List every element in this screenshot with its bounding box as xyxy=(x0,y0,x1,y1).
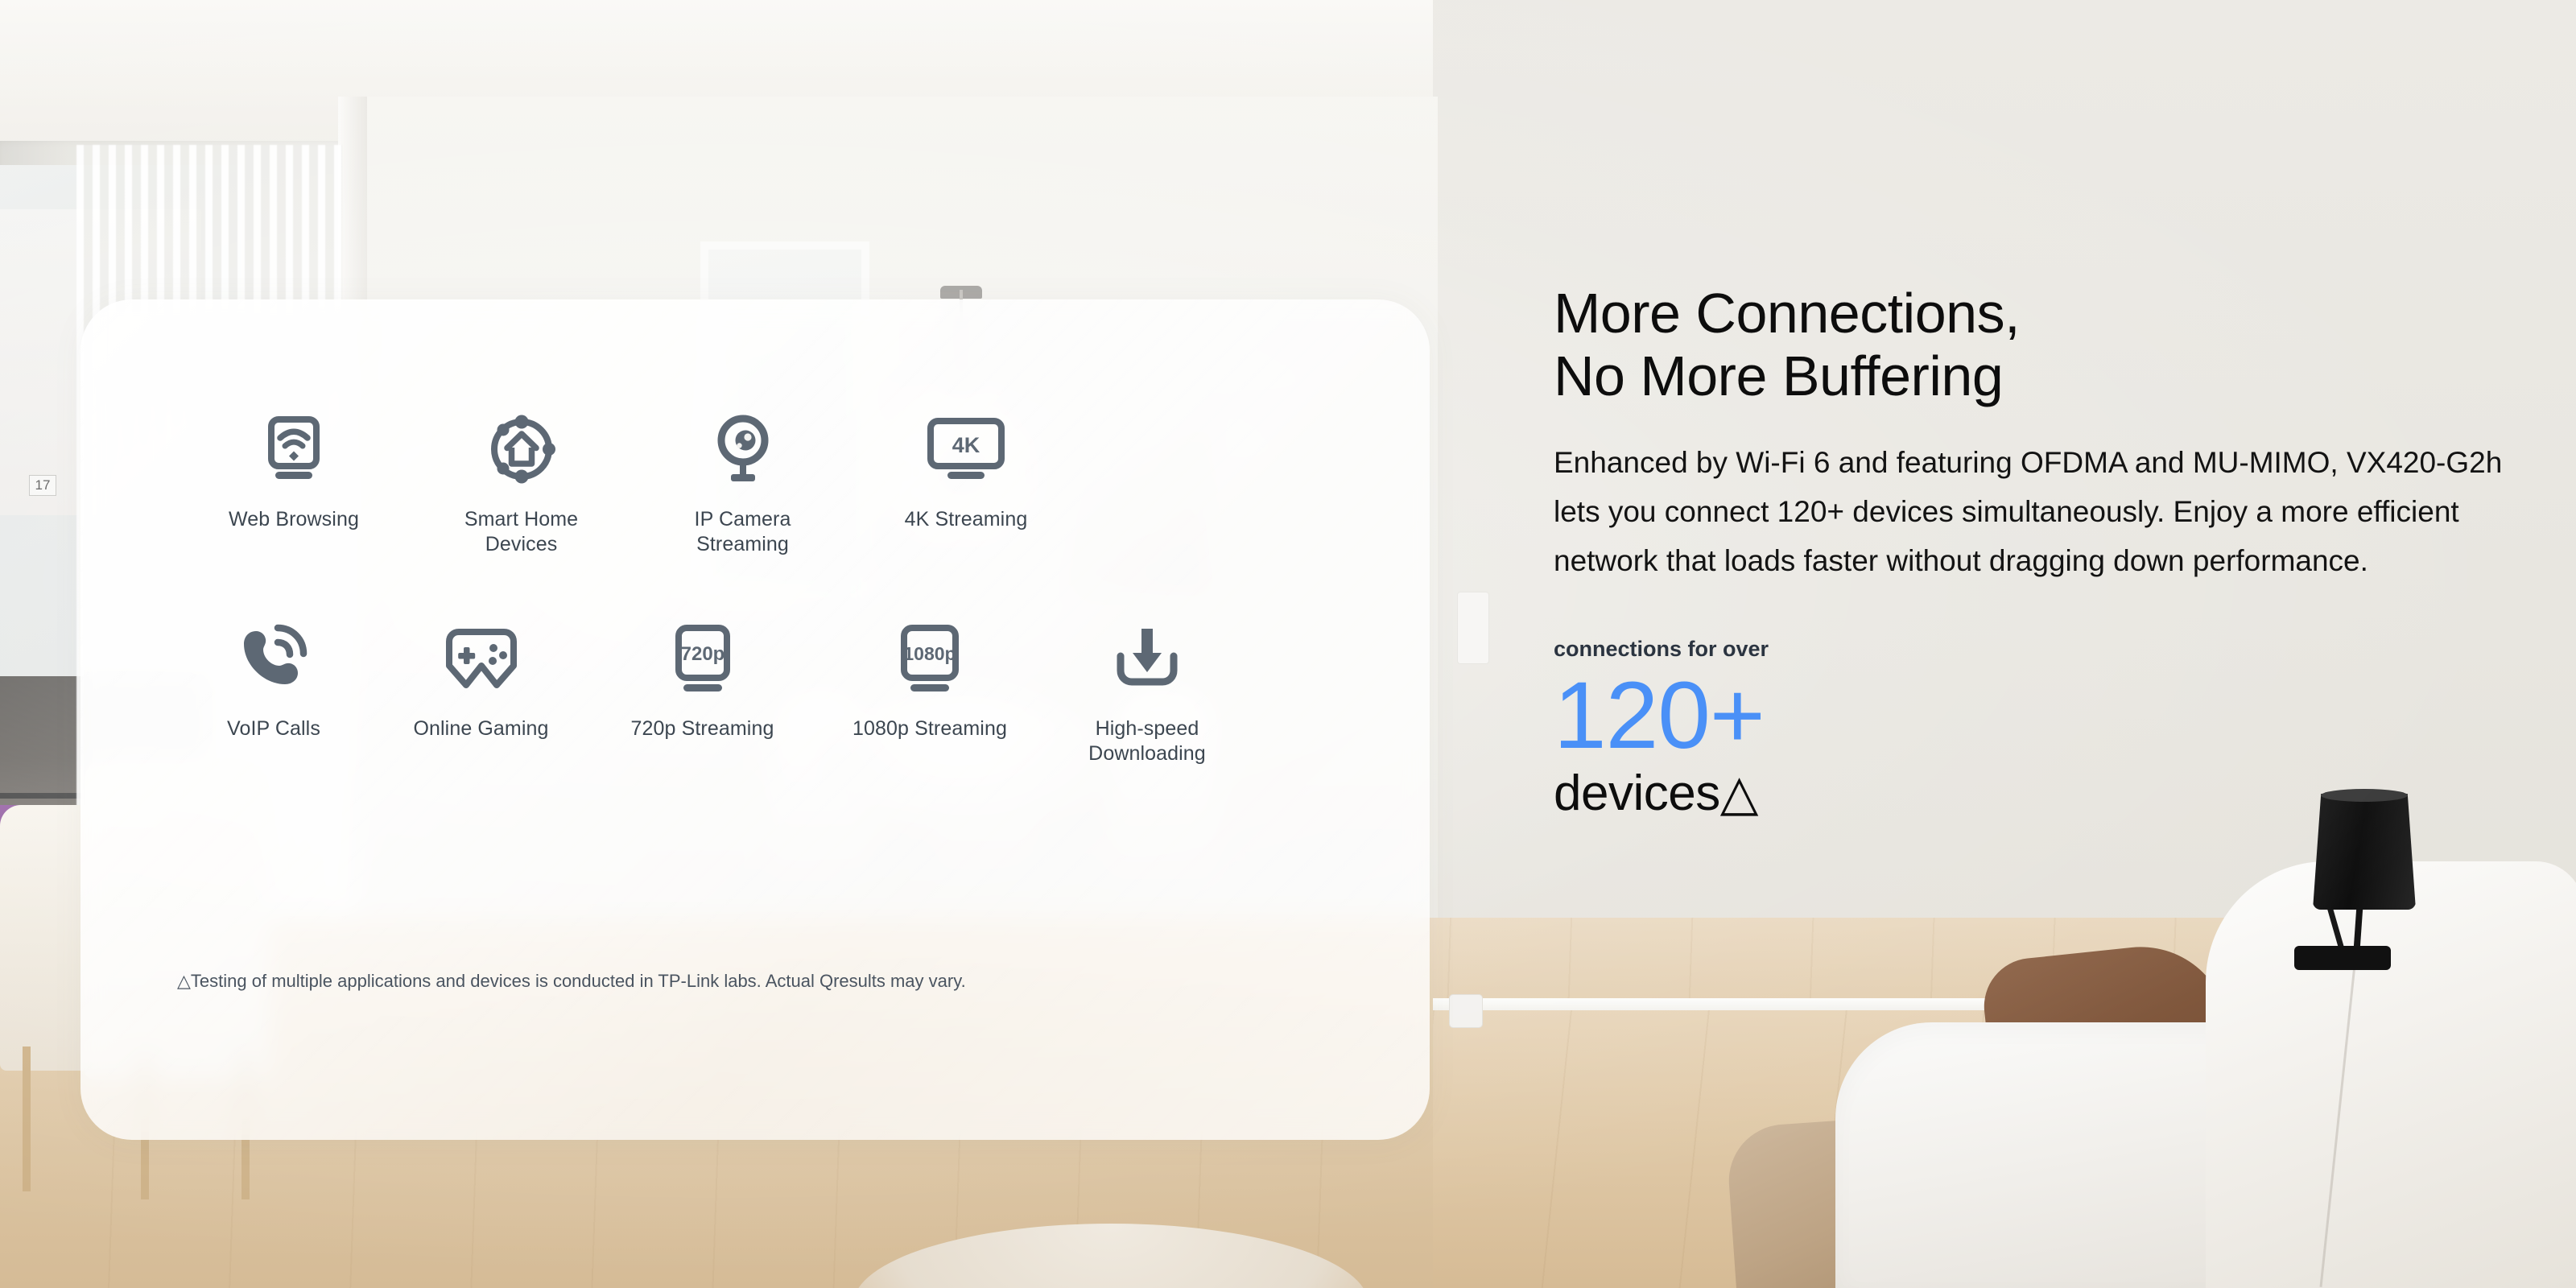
stat-block: connections for over 120+ devices△ xyxy=(1554,635,2504,822)
feature-label: IP Camera Streaming xyxy=(675,507,811,557)
download-tray-icon xyxy=(1113,621,1182,696)
feature-item-voip-calls[interactable]: VoIP Calls xyxy=(177,621,370,741)
feature-item-1080p-streaming[interactable]: 1080p 1080p Streaming xyxy=(813,621,1046,741)
monitor-1080p-icon: 1080p xyxy=(894,621,965,696)
page-title: More Connections, No More Buffering xyxy=(1554,282,2504,407)
feature-row-1: Web Browsing xyxy=(177,412,1336,557)
svg-text:4K: 4K xyxy=(952,433,980,457)
disclaimer-note: △Testing of multiple applications and de… xyxy=(177,969,966,993)
chair-leg-1 xyxy=(23,1046,31,1191)
feature-item-4k-streaming[interactable]: 4K 4K Streaming xyxy=(853,412,1079,532)
sofa-armrest xyxy=(2206,861,2576,1288)
monitor-4k-icon: 4K xyxy=(926,412,1006,486)
smart-home-icon xyxy=(487,412,556,486)
feature-label: 4K Streaming xyxy=(905,507,1028,532)
monitor-wifi-icon xyxy=(259,412,328,486)
feature-item-720p-streaming[interactable]: 720p 720p Streaming xyxy=(592,621,813,741)
marketing-copy: More Connections, No More Buffering Enha… xyxy=(1554,282,2504,822)
phone-signal-icon xyxy=(237,621,310,696)
feature-row-2: VoIP Calls Online Gaming xyxy=(177,621,1336,766)
svg-text:720p: 720p xyxy=(680,643,724,665)
feature-item-smart-home[interactable]: Smart Home Devices xyxy=(411,412,632,557)
wall-light-switch xyxy=(1457,592,1489,664)
feature-item-high-speed-download[interactable]: High-speed Downloading xyxy=(1046,621,1248,766)
feature-label: Smart Home Devices xyxy=(453,507,590,557)
promo-banner: 17 xyxy=(0,0,2576,1288)
feature-label: 1080p Streaming xyxy=(852,716,1007,741)
house-number-plate: 17 xyxy=(29,475,56,496)
wall-power-socket xyxy=(1449,994,1483,1028)
gamepad-icon xyxy=(443,621,520,696)
feature-item-web-browsing[interactable]: Web Browsing xyxy=(177,412,411,532)
body-paragraph: Enhanced by Wi-Fi 6 and featuring OFDMA … xyxy=(1554,438,2504,585)
feature-icon-grid: Web Browsing xyxy=(177,412,1336,766)
feature-label: High-speed Downloading xyxy=(1077,716,1218,766)
feature-label: 720p Streaming xyxy=(631,716,774,741)
svg-text:1080p: 1080p xyxy=(903,643,956,664)
ip-camera-icon xyxy=(708,412,778,486)
stat-number: 120+ xyxy=(1554,667,2504,764)
stat-unit: devices△ xyxy=(1554,766,2504,822)
monitor-720p-icon: 720p xyxy=(670,621,736,696)
feature-glass-card: Web Browsing xyxy=(80,299,1430,1140)
feature-label: Online Gaming xyxy=(413,716,548,741)
table-lamp-base xyxy=(2294,946,2391,970)
feature-label: VoIP Calls xyxy=(227,716,320,741)
feature-item-online-gaming[interactable]: Online Gaming xyxy=(370,621,592,741)
stat-kicker: connections for over xyxy=(1554,635,2504,663)
headline-line-2: No More Buffering xyxy=(1554,345,2504,407)
headline-line-1: More Connections, xyxy=(1554,282,2020,345)
feature-label: Web Browsing xyxy=(229,507,359,532)
feature-item-ip-camera[interactable]: IP Camera Streaming xyxy=(632,412,853,557)
